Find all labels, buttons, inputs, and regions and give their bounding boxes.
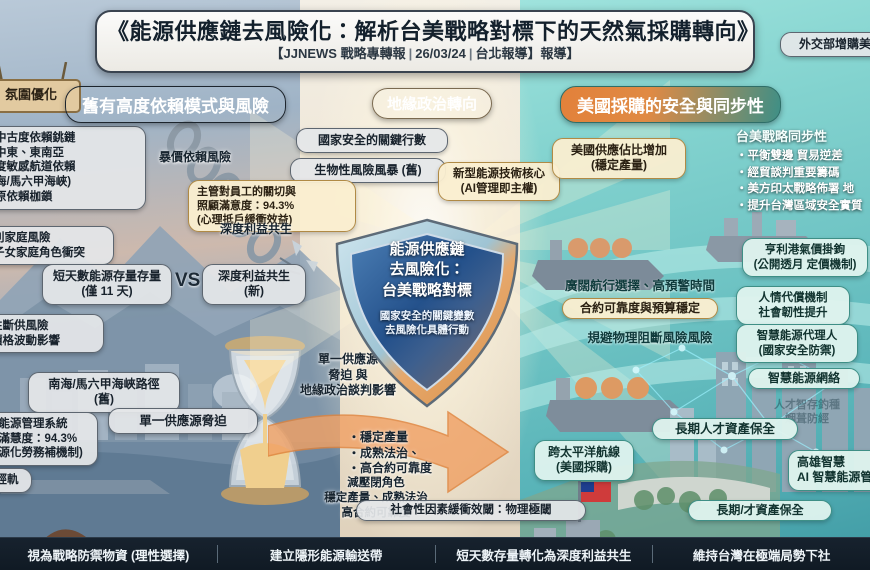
- central-shield: 能源供應鏈 去風險化： 台美戰略對標 國家安全的關鍵變數 去風險化具體行動: [333, 218, 521, 408]
- talent-asset-callout-2: 長期/才資產保全: [688, 500, 832, 521]
- rail-callout: 經軌: [0, 468, 32, 493]
- price-shock-label: 暴價依賴風險: [140, 150, 250, 166]
- smart-agent-callout: 智慧能源代理人 (國家安全防禦): [736, 324, 858, 363]
- deep-benefit-overlay-label: 深度利益共生: [196, 222, 316, 238]
- bottom-item-2: 短天數存量轉化為深度利益共生: [436, 545, 653, 564]
- foreign-ministry-label: 外交部增購美: [780, 32, 870, 57]
- strategy-sync-bullets: ・平衡雙邊 貿易逆差 ・經貿談判重要籌碼 ・美方印太戰略佈署 地 ・提升台灣區域…: [736, 148, 868, 215]
- byline-brand: 【JJNEWS 戰略專轉報: [271, 46, 406, 61]
- strategy-bullet-1: ・經貿談判重要籌碼: [736, 165, 868, 182]
- strategy-sync-heading: 台美戰略同步性: [736, 126, 868, 145]
- vs-label: VS: [175, 270, 200, 292]
- bottom-item-0: 視為戰略防禦物資 (理性選擇): [0, 545, 217, 564]
- sea-route-callout: 南海/馬六甲海峽路徑 (舊): [28, 372, 180, 413]
- section-header-legacy-risk: 舊有高度依賴模式與風險: [65, 86, 286, 123]
- strategy-sync-panel: 台美戰略同步性 ・平衡雙邊 貿易逆差 ・經貿談判重要籌碼 ・美方印太戰略佈署 地…: [736, 126, 868, 215]
- section-header-geopolitical-shift: 地緣政治轉向: [372, 88, 492, 119]
- bottom-item-1: 建立隱形能源輸送帶: [218, 545, 435, 564]
- henry-hub-callout: 亨利港氣價掛鉤 (公開透月 定價機制): [742, 238, 868, 277]
- deep-benefit-callout: 深度利益共生 (新): [202, 264, 306, 305]
- kaohsiung-ai-callout: 高雄智慧 AI 智慧能源管: [788, 450, 870, 491]
- smart-energy-mgmt-callout: 慧能源管理系統 顧滿慧度：94.3% 能源化勞務補機制): [0, 412, 98, 466]
- strategy-bullet-3: ・提升台灣區域安全實質: [736, 198, 868, 215]
- family-risk-callout: 利家庭風險 子女家庭角色衝突: [0, 226, 114, 265]
- single-source-coercion-callout: 單一供應源脅迫: [108, 408, 258, 434]
- us-supply-share-callout: 美國供應佔比增加 (穩定產量): [552, 138, 686, 179]
- social-buffer-callout: 社會性因素緩衝效閾：物理極閾: [356, 500, 586, 521]
- trans-pacific-route-callout: 跨太平洋航線 (美國採購): [534, 440, 634, 481]
- byline-sep-1: |: [406, 46, 416, 61]
- hanging-sign-label: 氛圍優化: [0, 84, 74, 103]
- dependency-chain-callout: 中古度依賴銚鏈 中東、東南亞 度敏感航道依賴 海/馬六甲海峽) 原依賴枷鎖: [0, 126, 146, 210]
- smart-grid-callout: 智慧能源網絡: [748, 368, 860, 389]
- national-security-callout: 國家安全的關鍵行數: [296, 128, 448, 153]
- supply-break-callout: 性斷供風險 價格波動影響: [0, 314, 104, 353]
- strategy-bullet-0: ・平衡雙邊 貿易逆差: [736, 148, 868, 165]
- byline-date: 26/03/24: [415, 46, 466, 61]
- wide-navigation-label: 廣闊航行選擇、高預警時間: [544, 278, 736, 294]
- bottom-item-3: 維持台灣在極端局勢下社: [653, 545, 870, 564]
- us-advantages-list: ・穩定產量 ・成熟法治、 ・高合約可靠度: [348, 430, 498, 477]
- human-cost-callout: 人情代償機制 社會韌性提升: [736, 286, 850, 325]
- byline: 【JJNEWS 戰略專轉報|26/03/24|台北報導】報導】: [107, 47, 743, 61]
- byline-place: 台北報導】報導】: [475, 46, 579, 61]
- headline-card: 《能源供應鏈去風險化：解析台美戰略對標下的天然氣採購轉向》 【JJNEWS 戰略…: [95, 10, 755, 73]
- avoid-blockade-label: 規避物理阻斷風險風險: [560, 330, 740, 346]
- new-tech-core-callout: 新型能源技術核心 (AI管理即主權): [438, 162, 560, 201]
- talent-asset-callout: 長期人才資產保全: [652, 418, 798, 440]
- contract-reliability-callout: 合約可靠度與預算穩定: [562, 298, 718, 319]
- infographic-canvas: 《能源供應鏈去風險化：解析台美戰略對標下的天然氣採購轉向》 【JJNEWS 戰略…: [0, 0, 870, 570]
- strategy-bullet-2: ・美方印太戰略佈署 地: [736, 181, 868, 198]
- section-header-us-procurement: 美國採購的安全與同步性: [560, 86, 781, 123]
- bottom-summary-bar: 視為戰略防禦物資 (理性選擇) 建立隱形能源輸送帶 短天數存量轉化為深度利益共生…: [0, 537, 870, 570]
- page-title: 《能源供應鏈去風險化：解析台美戰略對標下的天然氣採購轉向》: [107, 19, 743, 44]
- shield-graphic: [333, 218, 521, 408]
- storage-days-callout: 短天數能源存量存量 (僅 11 天): [42, 264, 172, 305]
